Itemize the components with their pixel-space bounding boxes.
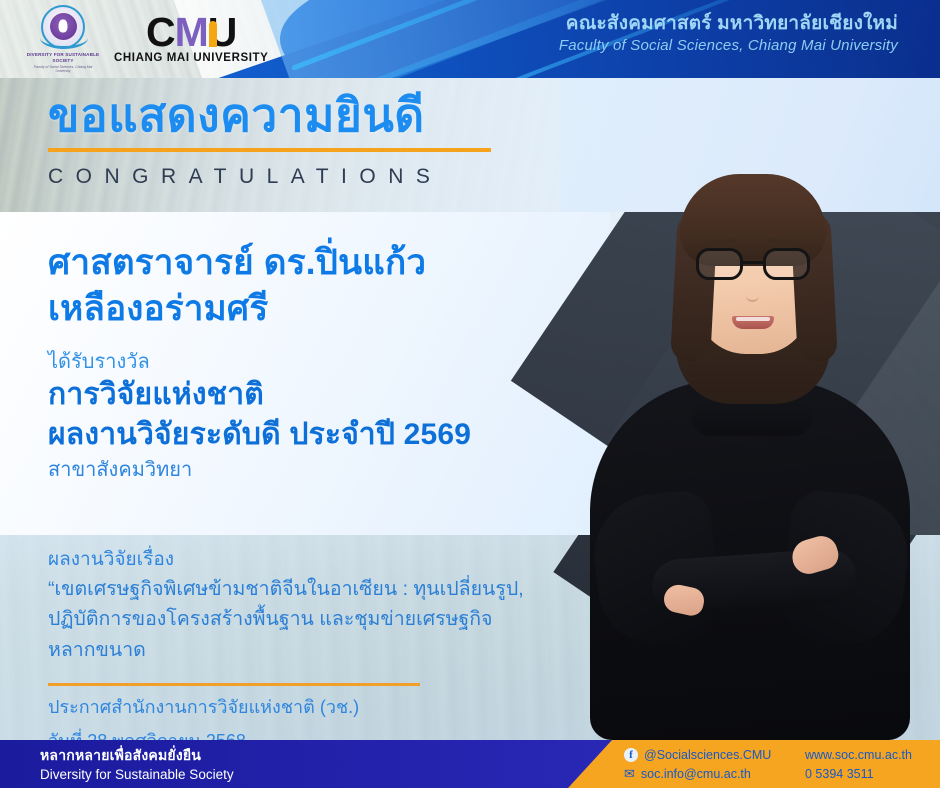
award-title-line-1: การวิจัยแห่งชาติ [48,375,471,415]
portrait-nose [746,282,759,302]
portrait-glasses-bridge [743,261,763,264]
research-announcement: ประกาศสำนักงานการวิจัยแห่งชาติ (วช.) [48,694,568,720]
cmu-logo-letters: C M U [146,14,236,52]
footer-slogan-group: หลากหลายเพื่อสังคมยั่งยืน Diversity for … [40,746,234,784]
portrait-lens-right [763,248,810,280]
logo-group: DIVERSITY FOR SUSTAINABLE SOCIETY Facult… [26,5,268,73]
research-orange-divider [48,683,420,686]
footer-contact-column-1: f @Socialsciences.CMU ✉ soc.info@cmu.ac.… [624,748,799,781]
emblem-tagline-primary: DIVERSITY FOR SUSTAINABLE SOCIETY [26,52,100,64]
honoree-name-line-2: เหลืองอร่ามศรี [48,286,471,332]
footer-facebook-handle: @Socialsciences.CMU [644,748,771,762]
header-org-thai: คณะสังคมศาสตร์ มหาวิทยาลัยเชียงใหม่ [559,12,898,36]
research-date: วันที่ 28 พฤศจิกายน 2568 [48,728,568,740]
research-title-line-2: ปฏิบัติการของโครงสร้างพื้นฐาน และชุมข่าย… [48,605,568,633]
footer-email-address: soc.info@cmu.ac.th [641,767,751,781]
footer-slogan-thai: หลากหลายเพื่อสังคมยั่งยืน [40,746,234,765]
header-org-english: Faculty of Social Sciences, Chiang Mai U… [559,37,898,54]
footer-slogan-english: Diversity for Sustainable Society [40,766,234,784]
cmu-letter-m: M [175,14,208,52]
faculty-emblem-logo: DIVERSITY FOR SUSTAINABLE SOCIETY Facult… [26,5,100,74]
footer-website-link[interactable]: www.soc.cmu.ac.th [805,748,912,762]
honoree-portrait-photo [556,140,940,740]
footer-facebook-link[interactable]: f @Socialsciences.CMU [624,748,799,762]
cmu-letter-u: U [208,14,237,52]
emblem-icon [41,5,85,49]
research-text-group: ผลงานวิจัยเรื่อง “เขตเศรษฐกิจพิเศษข้ามชา… [48,547,568,740]
cmu-logo-subtitle: CHIANG MAI UNIVERSITY [114,52,268,64]
header-organization-text: คณะสังคมศาสตร์ มหาวิทยาลัยเชียงใหม่ Facu… [559,12,898,54]
emblem-tagline-secondary: Faculty of Social Sciences, Chiang Mai U… [26,65,100,73]
award-field: สาขาสังคมวิทยา [48,457,471,483]
award-label: ได้รับรางวัล [48,349,471,375]
congratulations-english-heading: CONGRATULATIONS [48,165,491,189]
footer-phone-number: 0 5394 3511 [805,767,912,781]
footer-contact-group: f @Socialsciences.CMU ✉ soc.info@cmu.ac.… [610,740,940,788]
congratulations-orange-divider [48,148,491,152]
research-label: ผลงานวิจัยเรื่อง [48,547,568,573]
footer-email-link[interactable]: ✉ soc.info@cmu.ac.th [624,767,799,781]
research-title-line-3: หลากขนาด [48,636,568,664]
congratulations-thai-heading: ขอแสดงความยินดี [48,90,491,142]
honoree-text-group: ศาสตราจารย์ ดร.ปิ่นแก้ว เหลืองอร่ามศรี ไ… [48,240,471,483]
poster-footer: หลากหลายเพื่อสังคมยั่งยืน Diversity for … [0,740,940,788]
portrait-teeth [736,317,770,321]
envelope-icon: ✉ [624,767,635,780]
facebook-icon: f [624,748,638,762]
footer-contact-column-2: www.soc.cmu.ac.th 0 5394 3511 [805,748,912,781]
congratulations-poster: DIVERSITY FOR SUSTAINABLE SOCIETY Facult… [0,0,940,788]
poster-header: DIVERSITY FOR SUSTAINABLE SOCIETY Facult… [0,0,940,78]
honoree-name-line-1: ศาสตราจารย์ ดร.ปิ่นแก้ว [48,240,471,286]
cmu-logo: C M U CHIANG MAI UNIVERSITY [114,14,268,65]
portrait-eyeglasses [694,248,812,282]
cmu-letter-c: C [146,14,175,52]
banner-text-group: ขอแสดงความยินดี CONGRATULATIONS [48,90,491,189]
emblem-arc-icon [40,27,88,49]
research-title-line-1: “เขตเศรษฐกิจพิเศษข้ามชาติจีนในอาเซียน : … [48,575,568,603]
portrait-lens-left [696,248,743,280]
award-title-line-2: ผลงานวิจัยระดับดี ประจำปี 2569 [48,415,471,455]
